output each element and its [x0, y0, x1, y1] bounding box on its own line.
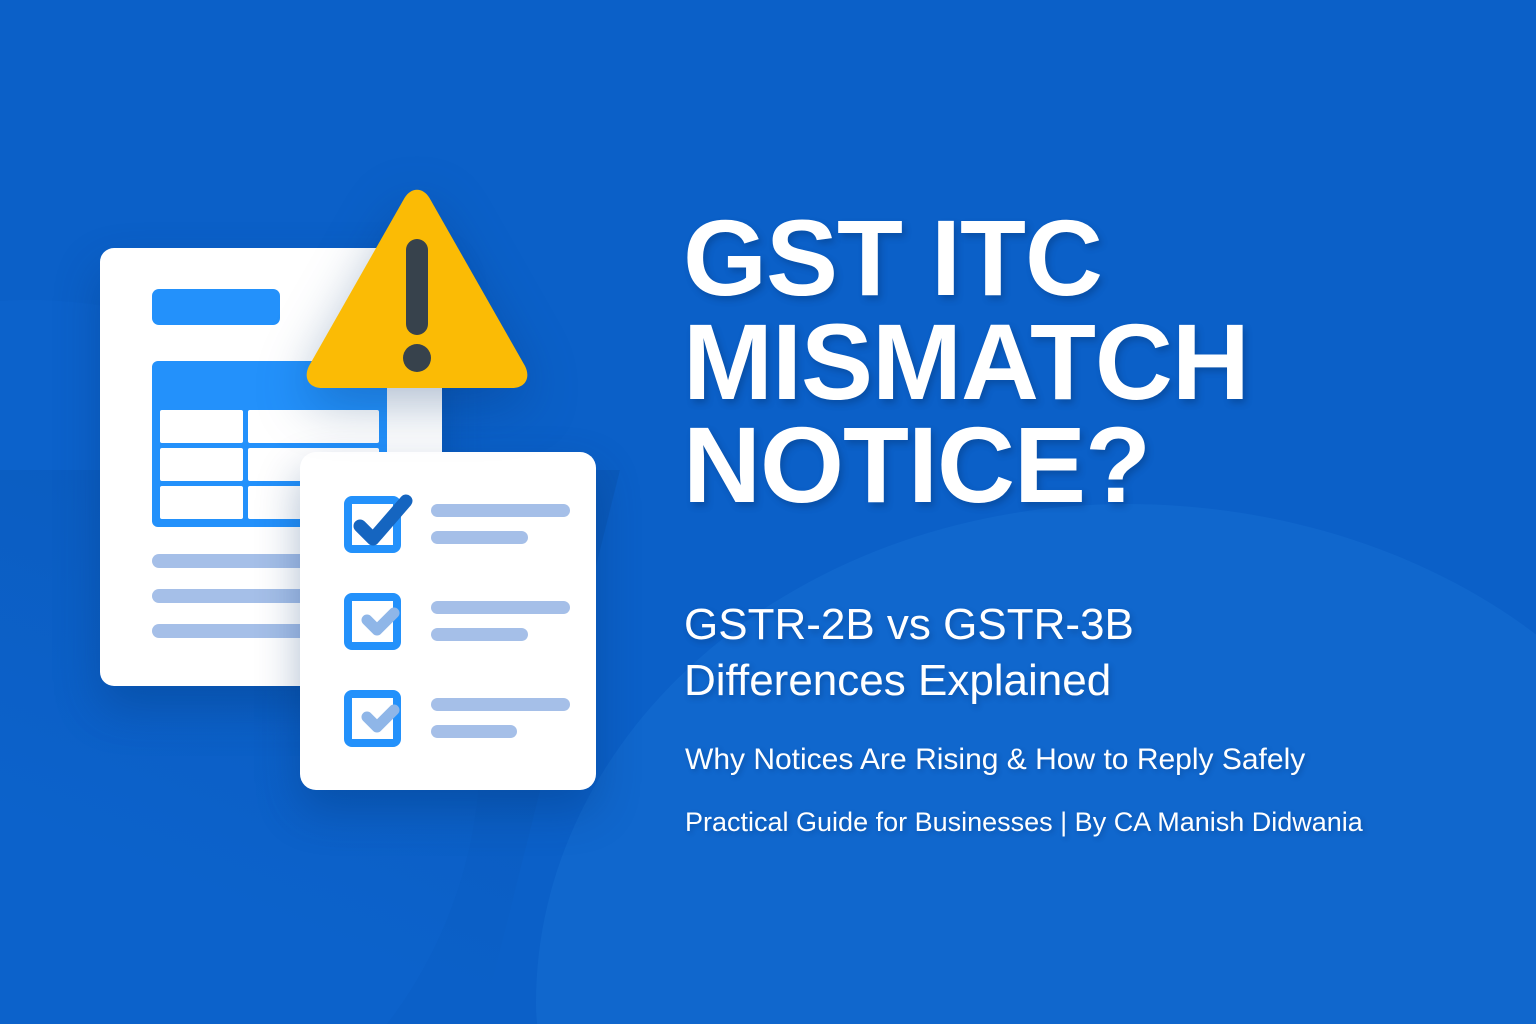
subheading: GSTR-2B vs GSTR-3B Differences Explained — [684, 597, 1484, 710]
checkmark-icon — [344, 682, 417, 755]
checklist-text-line — [431, 601, 570, 614]
checklist-item — [344, 688, 570, 748]
table-cell — [248, 410, 379, 443]
reconciliation-checklist-card — [300, 452, 596, 790]
checklist-text-line — [431, 531, 528, 544]
warning-triangle-icon — [303, 186, 531, 391]
document-title-bar — [152, 289, 280, 325]
byline: Practical Guide for Businesses | By CA M… — [685, 805, 1505, 840]
checkbox-checked-light — [344, 593, 401, 650]
poster-canvas: GST ITC MISMATCH NOTICE? GSTR-2B vs GSTR… — [0, 0, 1536, 1024]
headline-line-2: MISMATCH — [683, 310, 1483, 414]
checkmark-icon — [344, 488, 417, 561]
table-cell — [160, 486, 243, 519]
checklist-item — [344, 494, 570, 554]
headline-line-3: NOTICE? — [683, 413, 1483, 517]
subheading-line-1: GSTR-2B vs GSTR-3B — [684, 597, 1484, 653]
checkbox-checked-light — [344, 690, 401, 747]
tagline: Why Notices Are Rising & How to Reply Sa… — [685, 740, 1505, 779]
hero-illustration — [0, 0, 660, 1024]
checkbox-checked-bold — [344, 496, 401, 553]
checklist-text-line — [431, 698, 570, 711]
checklist-rows — [344, 494, 570, 748]
checklist-item — [344, 591, 570, 651]
checklist-text-line — [431, 725, 517, 738]
headline-line-1: GST ITC — [683, 206, 1483, 310]
page-title: GST ITC MISMATCH NOTICE? — [683, 206, 1483, 517]
text-column: GST ITC MISMATCH NOTICE? GSTR-2B vs GSTR… — [683, 0, 1503, 1024]
table-cell — [160, 410, 243, 443]
checklist-item-lines — [431, 504, 570, 544]
subheading-line-2: Differences Explained — [684, 653, 1484, 709]
checklist-text-line — [431, 628, 528, 641]
table-cell — [160, 448, 243, 481]
checklist-item-lines — [431, 601, 570, 641]
checkmark-icon — [344, 585, 417, 658]
checklist-text-line — [431, 504, 570, 517]
checklist-item-lines — [431, 698, 570, 738]
